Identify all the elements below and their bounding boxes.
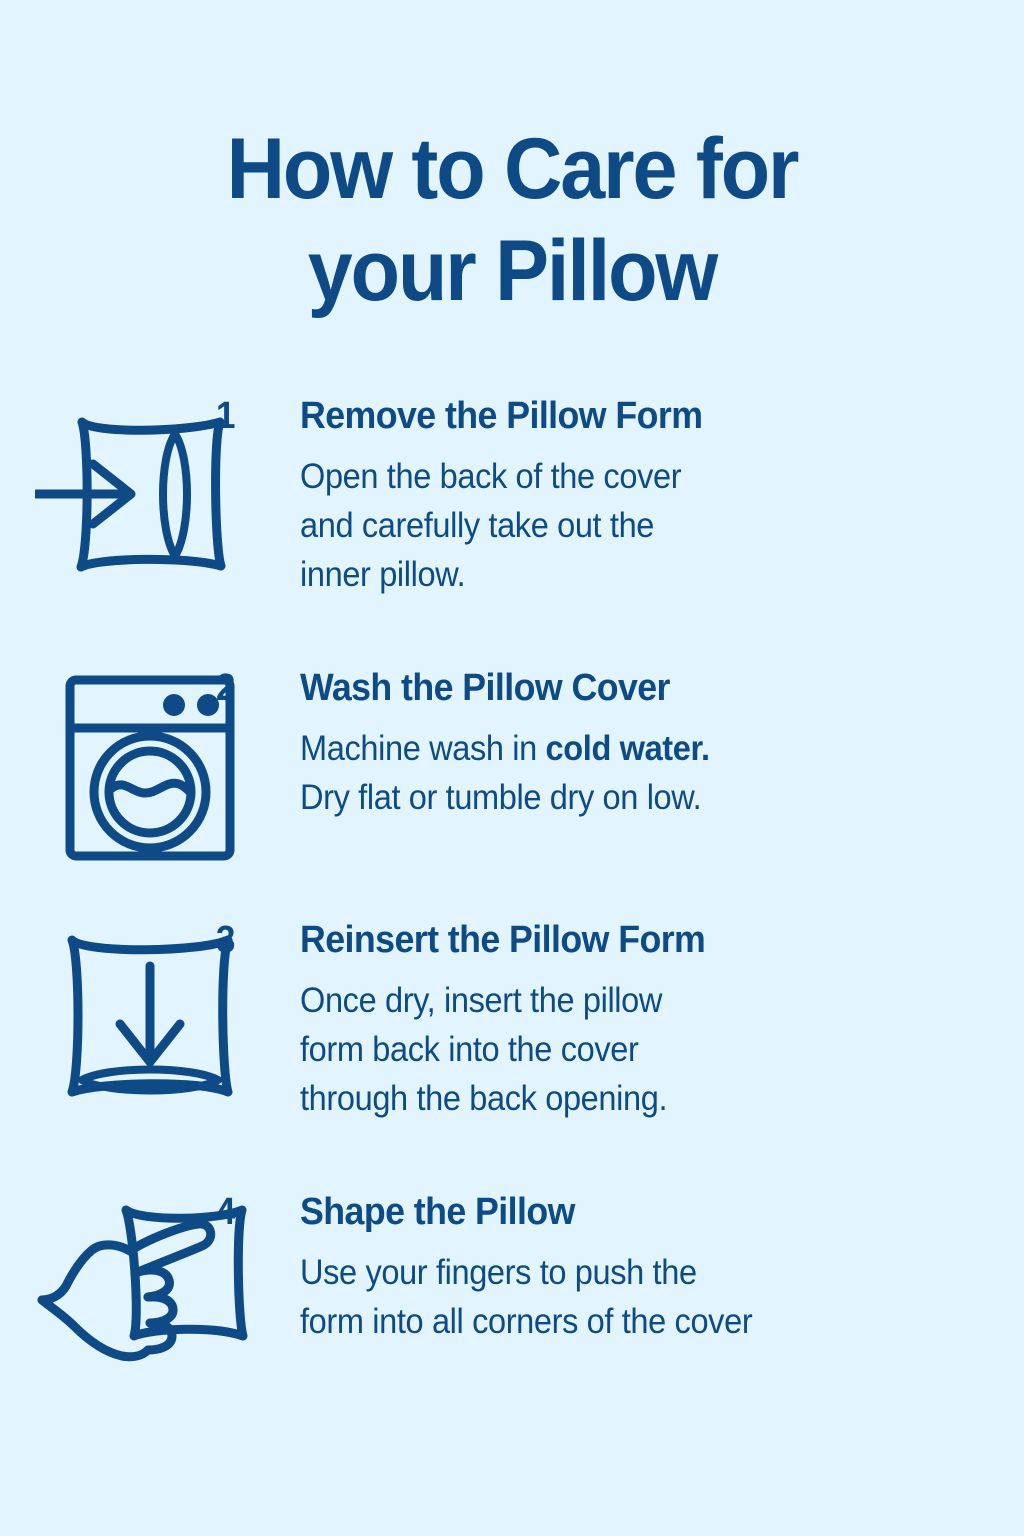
page-title-line-1: How to Care for (31, 118, 994, 220)
washing-machine-icon (62, 672, 238, 864)
step-2-body-line-2: Dry flat or tumble dry on low. (300, 773, 914, 822)
step-item-2: 2 Wash the Pillow Cover Machine wash in … (0, 664, 1024, 916)
step-2-body-line-1-prefix: Machine wash in (300, 729, 546, 768)
step-1-title: Remove the Pillow Form (300, 392, 702, 440)
page-title-line-2: your Pillow (31, 220, 994, 322)
step-3-body-line-1: Once dry, insert the pillow (300, 976, 914, 1025)
step-3-body: Once dry, insert the pillow form back in… (300, 976, 914, 1123)
step-4-body-line-2: form into all corners of the cover (300, 1297, 914, 1346)
step-2-title: Wash the Pillow Cover (300, 664, 670, 712)
step-1-body-line-2: and carefully take out the (300, 501, 914, 550)
step-3-text: 3 Reinsert the Pillow Form Once dry, ins… (300, 916, 1024, 1123)
step-3-body-line-2: form back into the cover (300, 1025, 914, 1074)
step-1-text: 1 Remove the Pillow Form Open the back o… (300, 392, 1024, 599)
step-3-body-line-3: through the back opening. (300, 1074, 914, 1123)
step-item-1: 1 Remove the Pillow Form Open the back o… (0, 392, 1024, 664)
step-2-icon-cell (0, 664, 300, 864)
step-4-icon-cell (0, 1188, 300, 1371)
step-2-body-line-1-emphasis: cold water. (546, 729, 710, 768)
steps-list: 1 Remove the Pillow Form Open the back o… (0, 392, 1024, 1408)
step-1-body-line-1: Open the back of the cover (300, 452, 914, 501)
step-4-title: Shape the Pillow (300, 1188, 575, 1236)
step-4-body: Use your fingers to push the form into a… (300, 1248, 914, 1346)
step-2-number: 2 (216, 664, 235, 712)
step-3-icon-cell (0, 916, 300, 1114)
step-3-number: 3 (216, 916, 235, 964)
step-4-body-line-1: Use your fingers to push the (300, 1248, 914, 1297)
step-2-body: Machine wash in cold water. Dry flat or … (300, 724, 914, 822)
step-3-title: Reinsert the Pillow Form (300, 916, 705, 964)
step-4-text: 4 Shape the Pillow Use your fingers to p… (300, 1188, 1024, 1346)
step-1-icon-cell (0, 392, 300, 590)
page-title: How to Care for your Pillow (0, 118, 1024, 322)
step-1-body-line-3: inner pillow. (300, 550, 914, 599)
step-1-number: 1 (216, 392, 235, 440)
step-4-number: 4 (216, 1188, 235, 1236)
step-2-text: 2 Wash the Pillow Cover Machine wash in … (300, 664, 1024, 822)
step-1-body: Open the back of the cover and carefully… (300, 452, 914, 599)
step-item-3: 3 Reinsert the Pillow Form Once dry, ins… (0, 916, 1024, 1188)
step-item-4: 4 Shape the Pillow Use your fingers to p… (0, 1188, 1024, 1408)
infographic-page: How to Care for your Pillow 1 Remove the… (0, 0, 1024, 1536)
step-2-body-line-1: Machine wash in cold water. (300, 724, 914, 773)
